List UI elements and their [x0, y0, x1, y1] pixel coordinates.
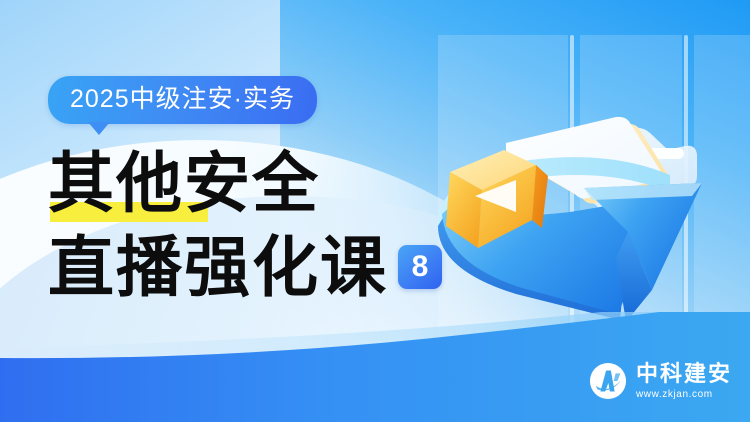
course-promo-banner: 2025中级注安·实务 其他安全 直播强化课 8 中科建安 www.zkjan.… [0, 0, 750, 422]
course-tag-label: 2025中级注安·实务 [70, 85, 295, 113]
course-tag-wrapper: 2025中级注安·实务 [48, 76, 317, 124]
brand-logo-text: 中科建安 www.zkjan.com [636, 362, 732, 399]
episode-number-badge: 8 [398, 245, 442, 289]
headline-line-2: 直播强化课 8 [48, 234, 468, 300]
headline-line-1: 其他安全 [48, 150, 468, 216]
course-tag-tail [88, 122, 110, 135]
headline-line-2-text: 直播强化课 [48, 234, 388, 300]
headline-line-1-text: 其他安全 [48, 144, 320, 222]
brand-url: www.zkjan.com [636, 389, 732, 400]
headline-block: 其他安全 直播强化课 8 [48, 150, 468, 300]
mountain-peak-circle-icon [589, 362, 627, 400]
brand-logo: 中科建安 www.zkjan.com [589, 362, 732, 400]
course-tag-badge: 2025中级注安·实务 [48, 76, 317, 124]
brand-name: 中科建安 [636, 362, 732, 385]
course-illustration [420, 0, 750, 360]
